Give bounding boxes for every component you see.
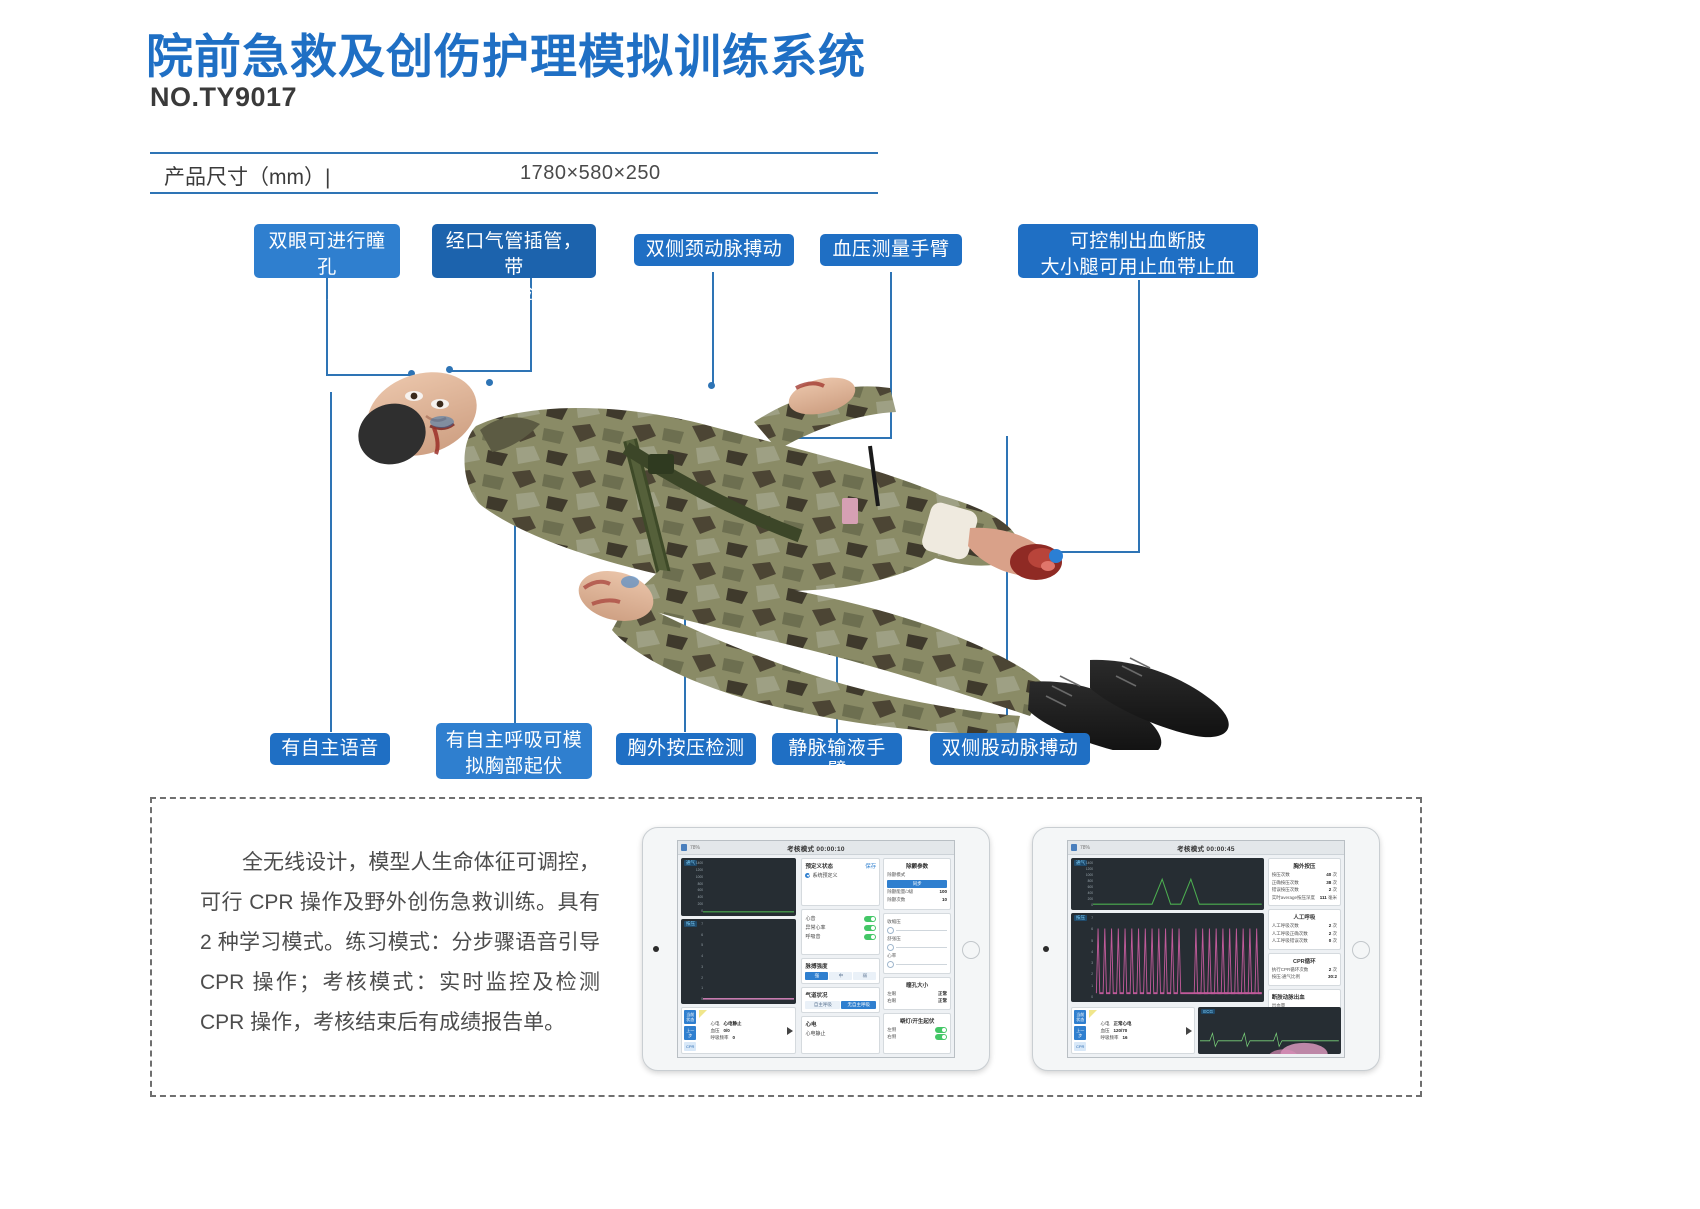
pupil-left-row[interactable]: 左眼 正常: [887, 991, 947, 997]
seg-option[interactable]: 自主呼吸: [805, 1001, 840, 1009]
result-key: 错误按压次数: [1272, 887, 1299, 893]
slider-label: 心率: [887, 953, 896, 959]
slider-label: 收缩压: [887, 919, 901, 925]
assessment-results-column: 胸外按压 按压次数 40 次 正确按压次数 38 次: [1267, 855, 1344, 1005]
result-value: 38: [1326, 880, 1331, 885]
ventilation-waveform: 通气 1400 1200 1000 800 600 400 200 0: [681, 858, 796, 916]
result-key: 人工呼吸错误次数: [1272, 938, 1308, 944]
callout-intubation: 经口气管插管，带 电子检测: [432, 224, 596, 278]
tablet-practice-screenshot[interactable]: 78% 考核模式 00:00:10 通气 1400 1200 1000 800: [642, 827, 990, 1071]
waveform-column: 通气 1400 1200 1000 800 600 400 200 0: [1068, 855, 1267, 1005]
current-state-button[interactable]: 当前 状态: [684, 1010, 696, 1024]
slider-track[interactable]: [896, 947, 947, 948]
cycle-title: CPR循环: [1272, 957, 1337, 965]
pupil-right-value: 正常: [938, 998, 947, 1004]
callout-bleeding-limb: 可控制出血断肢 大小腿可用止血带止血: [1018, 224, 1258, 278]
result-key: 人工呼吸次数: [1272, 923, 1299, 929]
app-body: 通气 1400 1200 1000 800 600 400 200 0: [1068, 855, 1344, 1057]
mode-timer: 考核模式 00:00:10: [678, 843, 954, 853]
sound-label: 呼吸音: [805, 933, 820, 940]
pulse-strength-card[interactable]: 脉搏强度 强 中 弱: [801, 958, 880, 984]
tick: 1400: [1081, 861, 1093, 865]
tick: 1000: [1081, 873, 1093, 877]
vital-value: 16: [1122, 1035, 1127, 1041]
callout-femoral-pulse: 双侧股动脉搏动: [930, 733, 1090, 765]
tick: 1000: [691, 875, 703, 879]
tick: 200: [1081, 897, 1093, 901]
slider-label: 舒张压: [887, 936, 901, 942]
tick: 6: [691, 933, 703, 937]
vital-value: 正常心电: [1113, 1021, 1131, 1027]
tick: 600: [1081, 885, 1093, 889]
vital-key: 血压: [1100, 1028, 1109, 1034]
tick: 2: [691, 976, 703, 980]
ecg-preview: ECG: [1198, 1007, 1341, 1054]
callout-chest-compression: 胸外按压检测: [616, 733, 756, 765]
seg-option[interactable]: 强: [805, 972, 828, 980]
defib-energy-value: 100: [939, 889, 947, 895]
manikin-photo: [330, 330, 1330, 750]
ecg-value: 心电静止: [805, 1030, 825, 1037]
vital-value: 心电静止: [723, 1021, 741, 1027]
result-row: 人工呼吸次数 2 次: [1272, 923, 1337, 929]
chest-left-row[interactable]: 左侧: [887, 1027, 947, 1033]
result-row: 错误按压次数 2 次: [1272, 887, 1337, 893]
slider-knob[interactable]: [887, 927, 894, 934]
tick: 7: [691, 922, 703, 926]
compression-y-axis: 7 6 5 4 3 2 1 0: [1081, 916, 1093, 999]
tick: 0: [691, 909, 703, 913]
tick: 4: [691, 954, 703, 958]
ventilation-waveform: 通气 1400 1200 1000 800 600 400 200 0: [1071, 858, 1264, 910]
vital-value: 0: [732, 1035, 735, 1041]
result-row: 执行CPR循环次数 2 次: [1272, 967, 1337, 973]
tick: 0: [1081, 995, 1093, 999]
result-key: 正确按压次数: [1272, 880, 1299, 886]
result-value: 2: [1329, 967, 1332, 972]
cpr-button[interactable]: CPR: [684, 1042, 696, 1051]
tablet-home-button[interactable]: [1352, 941, 1370, 959]
slider-track[interactable]: [896, 930, 947, 931]
product-sheet: 院前急救及创伤护理模拟训练系统 NO.TY9017 产品尺寸（mm）| 1780…: [0, 0, 1700, 1209]
airway-card[interactable]: 气道状况 自主呼吸 无自主呼吸: [801, 987, 880, 1013]
result-unit: 毫米: [1328, 895, 1337, 900]
result-unit: 次: [1332, 880, 1337, 885]
heartrate-slider[interactable]: [887, 961, 947, 968]
play-icon[interactable]: [787, 1027, 793, 1035]
play-icon[interactable]: [1186, 1027, 1192, 1035]
toggle-switch[interactable]: [864, 925, 876, 931]
current-state-button[interactable]: 当前 状态: [1074, 1010, 1086, 1024]
tick: 1: [1081, 984, 1093, 988]
vitals-readouts: 心电正常心电 血压120/70 呼吸频率16: [1100, 1010, 1183, 1051]
predefined-option[interactable]: 系统预定义: [805, 872, 876, 879]
tick: 5: [691, 943, 703, 947]
ventilation-y-axis: 1400 1200 1000 800 600 400 200 0: [1081, 861, 1093, 907]
slider-knob[interactable]: [887, 961, 894, 968]
result-value: 2: [1329, 887, 1332, 892]
callout-iv-arm: 静脉输液手臂: [772, 733, 902, 765]
seg-option[interactable]: 中: [829, 972, 852, 980]
option-label: 系统预定义: [812, 872, 837, 879]
tablet-screen: 78% 考核模式 00:00:10 通气 1400 1200 1000 800: [677, 840, 955, 1058]
defib-energy-row: 除颤能量/J级 100: [887, 889, 947, 895]
defib-title: 除颤参数: [887, 862, 947, 870]
description-text: 全无线设计，模型人生命体征可调控，可行 CPR 操作及野外创伤急救训练。具有 2…: [200, 843, 600, 1043]
chest-title: 噼灯/开生起伏: [887, 1017, 947, 1025]
callout-bp-arm: 血压测量手臂: [820, 234, 962, 266]
pupil-right-label: 右眼: [887, 998, 896, 1004]
systolic-slider[interactable]: [887, 927, 947, 934]
airway-segmented[interactable]: 自主呼吸 无自主呼吸: [805, 1001, 876, 1009]
pulse-strength-segmented[interactable]: 强 中 弱: [805, 972, 876, 980]
breathing-title: 人工呼吸: [1272, 913, 1337, 921]
result-unit: 次: [1332, 967, 1337, 972]
chest-right-label: 右侧: [887, 1034, 896, 1040]
result-unit: 次: [1332, 938, 1337, 943]
sound-label: 异常心率: [805, 924, 825, 931]
result-key: 人工呼吸正确次数: [1272, 931, 1308, 937]
card-title: 气道状况: [805, 991, 827, 999]
seg-option[interactable]: 无自主呼吸: [841, 1001, 876, 1009]
vital-key: 心电: [1100, 1021, 1109, 1027]
app-status-bar: 78% 考核模式 00:00:45: [1068, 841, 1344, 855]
sound-row[interactable]: 异常心率: [805, 924, 876, 931]
result-value: 40: [1326, 872, 1331, 877]
cpr-cycle-card: CPR循环 执行CPR循环次数 2 次 按压:通气比例 30:2: [1268, 953, 1341, 986]
spec-band: 产品尺寸（mm）| 1780×580×250: [150, 152, 878, 194]
cpr-button[interactable]: CPR: [1074, 1042, 1086, 1051]
spec-label: 产品尺寸（mm）|: [164, 161, 330, 191]
tick: 400: [691, 895, 703, 899]
card-header: 气道状况: [805, 991, 876, 999]
slider-label-row: 收缩压: [887, 919, 947, 925]
defib-mode-row: 除颤模式: [887, 872, 947, 878]
result-row: 人工呼吸错误次数 0 次: [1272, 938, 1337, 944]
vitals-sliders-card[interactable]: 收缩压 舒张压 心率: [883, 913, 951, 974]
tablet-camera-icon: [653, 946, 659, 952]
ecg-card[interactable]: 心电 心电静止: [801, 1016, 880, 1054]
pupil-left-value: 正常: [938, 991, 947, 997]
result-value: 0: [1329, 938, 1332, 943]
vital-value: 0/0: [723, 1028, 729, 1034]
card-title: 心电: [805, 1020, 816, 1028]
result-key: 按压次数: [1272, 872, 1290, 878]
compression-waveform: 按压 7 6 5 4 3 2 1 0: [1071, 913, 1264, 1002]
tick: 4: [1081, 950, 1093, 954]
tick: 200: [691, 902, 703, 906]
mode-timer: 考核模式 00:00:45: [1068, 843, 1344, 853]
compression-results-card: 胸外按压 按压次数 40 次 正确按压次数 38 次: [1268, 858, 1341, 906]
toggle-switch[interactable]: [935, 1027, 947, 1033]
toggle-switch[interactable]: [864, 934, 876, 940]
spec-value: 1780×580×250: [520, 162, 661, 185]
waveform-column: 通气 1400 1200 1000 800 600 400 200 0: [678, 855, 799, 1057]
toggle-switch[interactable]: [935, 1034, 947, 1040]
compression-waveform: 按压 7 6 5 4 3 2 1 0: [681, 919, 796, 1004]
vital-key: 呼吸频率: [710, 1035, 728, 1041]
callout-carotid-pulse: 双侧颈动脉搏动: [634, 234, 794, 266]
app-body: 通气 1400 1200 1000 800 600 400 200 0: [678, 855, 954, 1057]
slider-label-row: 心率: [887, 953, 947, 959]
result-key: 按压:通气比例: [1272, 974, 1300, 980]
tick: 1: [691, 986, 703, 990]
diastolic-slider[interactable]: [887, 944, 947, 951]
pupil-left-label: 左眼: [887, 991, 896, 997]
tick: 1400: [691, 861, 703, 865]
tablet-home-button[interactable]: [962, 941, 980, 959]
pupil-right-row[interactable]: 右眼 正常: [887, 998, 947, 1004]
result-value: 2: [1329, 923, 1332, 928]
pupil-size-card[interactable]: 瞳孔大小 左眼 正常 右眼 正常: [883, 977, 951, 1010]
defib-mode-value[interactable]: 同步: [887, 880, 947, 888]
result-value: 2: [1329, 931, 1332, 936]
defib-energy-label: 除颤能量/J级: [887, 889, 913, 895]
vitals-bar[interactable]: 当前 状态 上一 步 CPR 心电正常心电 血压120/70 呼吸频率16: [1071, 1007, 1195, 1054]
defib-mode-label: 除颤模式: [887, 872, 905, 878]
chest-rise-card[interactable]: 噼灯/开生起伏 左侧 右侧: [883, 1013, 951, 1055]
tick: 7: [1081, 916, 1093, 920]
card-header: 脉搏强度: [805, 962, 876, 970]
card-header: 心电: [805, 1020, 876, 1028]
vital-key: 血压: [710, 1028, 719, 1034]
vital-key: 呼吸频率: [1100, 1035, 1118, 1041]
defib-count-row: 除颤次数 10: [887, 897, 947, 903]
parameters-column: 除颤参数 除颤模式 同步 除颤能量/J级 100 除颤次数 1: [882, 855, 954, 1057]
tick: 6: [1081, 927, 1093, 931]
tablet-camera-icon: [1043, 946, 1049, 952]
prev-step-button[interactable]: 上一 步: [684, 1026, 696, 1040]
tablet-assessment-screenshot[interactable]: 78% 考核模式 00:00:45 通气 1400 1200 1000: [1032, 827, 1380, 1071]
tick: 0: [691, 997, 703, 1001]
app-status-bar: 78% 考核模式 00:00:10: [678, 841, 954, 855]
callout-autonomous-voice: 有自主语音: [270, 733, 390, 765]
result-unit: 次: [1332, 887, 1337, 892]
step-marker-icon: [699, 1010, 707, 1018]
result-key: 实时average按压深度: [1272, 895, 1315, 901]
defib-params-card[interactable]: 除颤参数 除颤模式 同步 除颤能量/J级 100 除颤次数 1: [883, 858, 951, 910]
sound-row[interactable]: 心音: [805, 915, 876, 922]
result-row: 按压次数 40 次: [1272, 872, 1337, 878]
tick: 600: [691, 888, 703, 892]
chest-right-row[interactable]: 右侧: [887, 1034, 947, 1040]
tick: 400: [1081, 891, 1093, 895]
result-key: 执行CPR循环次数: [1272, 967, 1309, 973]
page-title: 院前急救及创伤护理模拟训练系统: [146, 18, 866, 87]
prev-step-button[interactable]: 上一 步: [1074, 1026, 1086, 1040]
step-marker-icon: [1089, 1010, 1097, 1018]
tick: 1200: [1081, 867, 1093, 871]
slider-knob[interactable]: [887, 944, 894, 951]
card-title: 脉搏强度: [805, 962, 827, 970]
result-unit: 次: [1332, 931, 1337, 936]
tick: 800: [1081, 879, 1093, 883]
save-link[interactable]: 保存: [865, 862, 876, 870]
sound-label: 心音: [805, 915, 815, 922]
defib-count-label: 除颤次数: [887, 897, 905, 903]
compression-title: 胸外按压: [1272, 862, 1337, 870]
card-title: 预定义状态: [805, 862, 833, 870]
sound-toggles-card[interactable]: 心音 异常心率 呼吸音: [801, 909, 880, 955]
vital-value: 120/70: [1113, 1028, 1127, 1034]
slider-track[interactable]: [896, 964, 947, 965]
vitals-buttons[interactable]: 当前 状态 上一 步 CPR: [1074, 1010, 1086, 1051]
toggle-switch[interactable]: [864, 916, 876, 922]
result-unit: 次: [1332, 872, 1337, 877]
model-number: NO.TY9017: [150, 82, 297, 113]
vitals-buttons[interactable]: 当前 状态 上一 步 CPR: [684, 1010, 696, 1051]
tick: 3: [691, 965, 703, 969]
result-row: 人工呼吸正确次数 2 次: [1272, 931, 1337, 937]
tick: 1200: [691, 868, 703, 872]
tick: 2: [1081, 972, 1093, 976]
description-panel: 全无线设计，模型人生命体征可调控，可行 CPR 操作及野外创伤急救训练。具有 2…: [150, 797, 1422, 1097]
compression-y-axis: 7 6 5 4 3 2 1 0: [691, 922, 703, 1001]
sound-row[interactable]: 呼吸音: [805, 933, 876, 940]
callout-pupil-reflex: 双眼可进行瞳孔 对光反射检查: [254, 224, 400, 278]
ventilation-y-axis: 1400 1200 1000 800 600 400 200 0: [691, 861, 703, 913]
tick: 5: [1081, 939, 1093, 943]
controls-column: 预定义状态 保存 系统预定义 心音: [799, 855, 882, 1057]
chest-left-label: 左侧: [887, 1027, 896, 1033]
tablet-screen: 78% 考核模式 00:00:45 通气 1400 1200 1000: [1067, 840, 1345, 1058]
card-header: 预定义状态 保存: [805, 862, 876, 870]
breathing-results-card: 人工呼吸 人工呼吸次数 2 次 人工呼吸正确次数 2 次: [1268, 909, 1341, 950]
tick: 800: [691, 882, 703, 886]
callout-spontaneous-breathing: 有自主呼吸可模 拟胸部起伏: [436, 723, 592, 779]
slider-label-row: 舒张压: [887, 936, 947, 942]
result-row: 按压:通气比例 30:2: [1272, 974, 1337, 980]
check-icon: [805, 873, 810, 878]
vital-key: 心电: [710, 1021, 719, 1027]
predefined-state-card[interactable]: 预定义状态 保存 系统预定义: [801, 858, 880, 906]
ecg-value-row: 心电静止: [805, 1030, 876, 1037]
bleeding-title: 断肢动脉出血: [1272, 993, 1337, 1001]
result-value: 111: [1320, 895, 1327, 900]
vitals-readouts: 心电心电静止 血压0/0 呼吸频率0: [710, 1010, 784, 1051]
tick: 3: [1081, 961, 1093, 965]
result-unit: 次: [1332, 923, 1337, 928]
result-value: 30:2: [1328, 974, 1337, 979]
vitals-bar[interactable]: 当前 状态 上一 步 CPR 心电心电静止 血压0/0 呼吸频率0: [681, 1007, 796, 1054]
result-row: 实时average按压深度 111 毫米: [1272, 895, 1337, 901]
pupil-title: 瞳孔大小: [887, 981, 947, 989]
seg-option[interactable]: 弱: [853, 972, 876, 980]
tick: 0: [1081, 903, 1093, 907]
result-row: 正确按压次数 38 次: [1272, 880, 1337, 886]
defib-count-value: 10: [942, 897, 947, 903]
